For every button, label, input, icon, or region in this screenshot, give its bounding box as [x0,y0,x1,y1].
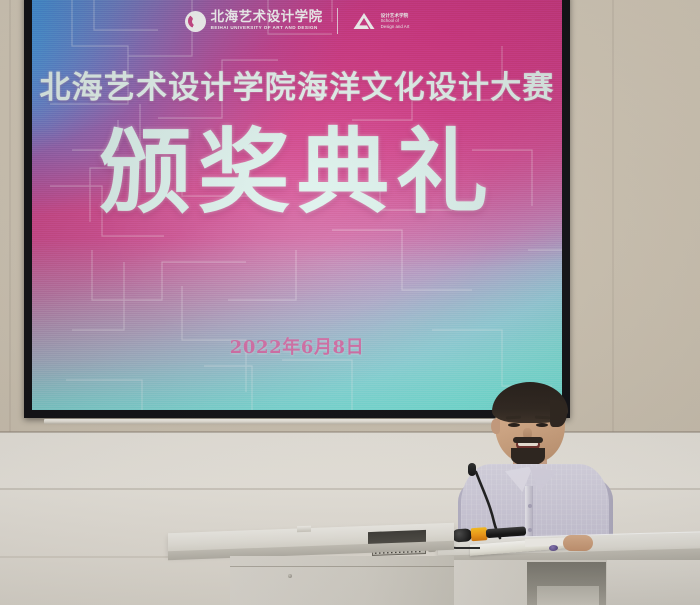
speaker-shirt-button-2 [528,528,532,532]
wall-vertical-seam-left [9,0,11,432]
speaker-hand [563,535,593,551]
speaker-moustache [513,437,543,443]
front-table-base-seam [230,566,454,567]
screenshot-root: 北海艺术设计学院 BEIHAI UNIVERSITY OF ART AND DE… [0,0,700,605]
handheld-mic-body [486,526,527,538]
speaker-eye-right [536,423,548,427]
wall-vertical-seam-right [612,0,614,432]
speaker-shirt-button-1 [528,504,532,508]
podium-right-panel [607,560,700,605]
handheld-mic-grille [452,528,473,542]
projection-screen-frame: 北海艺术设计学院 BEIHAI UNIVERSITY OF ART AND DE… [24,0,570,418]
handheld-mic-band [471,527,488,541]
projection-screen-surface: 北海艺术设计学院 BEIHAI UNIVERSITY OF ART AND DE… [32,0,562,410]
podium-shelf-inner [537,586,599,605]
screen-vignette [32,0,562,410]
front-table-base [230,556,454,605]
speaker-eye-left [508,423,520,427]
speaker-ear [491,419,500,434]
front-table-latch [297,526,311,533]
front-table-screw [288,574,292,578]
